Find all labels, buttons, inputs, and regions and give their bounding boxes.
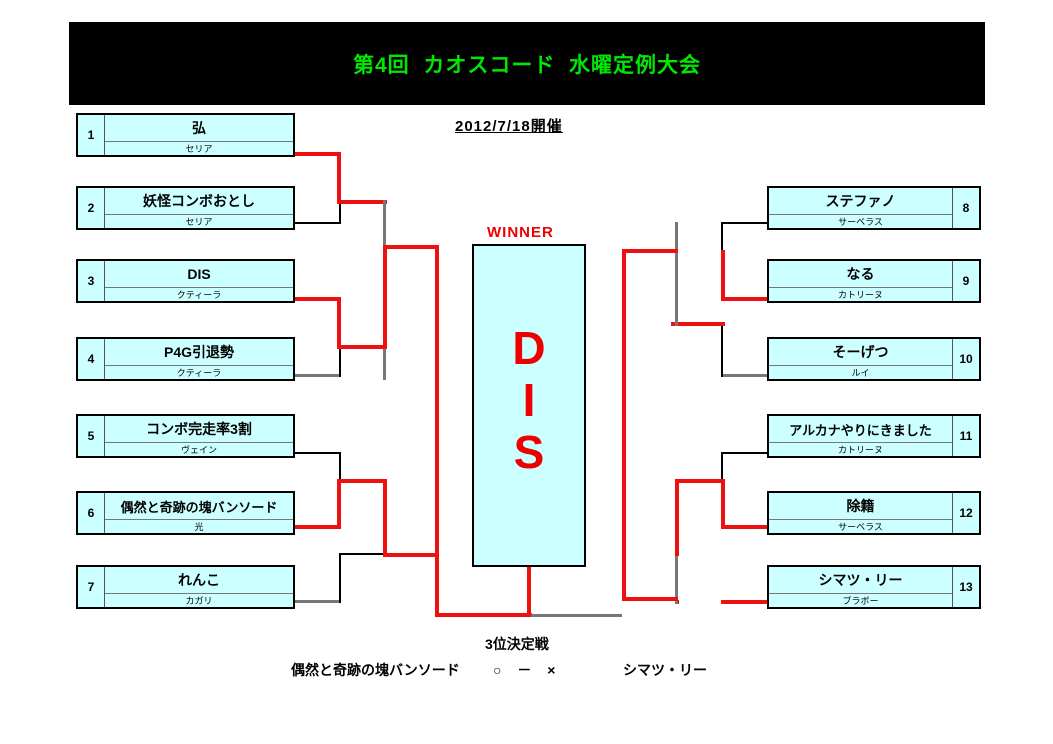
line-final-right-to-box [531,614,622,617]
player-character: ヴェイン [105,442,293,456]
seed-number: 10 [952,339,979,379]
line-final-left-vert [435,245,439,617]
line-seed7-out [295,600,341,603]
line-match810-gry [675,222,678,326]
line-seed8-drop [721,222,723,250]
winner-label: WINNER [487,224,554,241]
line-match1112-bar [675,479,725,483]
line-seed7-bar [339,553,385,555]
entry-seed-4[interactable]: 4 P4G引退勢 クティーラ [76,337,295,381]
line-final-box-stub [527,566,531,617]
line-seed1-drop [337,152,341,202]
entry-seed-1[interactable]: 1 弘 セリア [76,113,295,157]
player-character: カトリーヌ [769,287,952,301]
seed-number: 5 [78,416,105,456]
player-character: カガリ [105,593,293,607]
line-seed6-riser [337,479,341,529]
seed-number: 2 [78,188,105,228]
line-seed2-out [295,222,341,224]
third-place-right-player: シマツ・リー [623,660,707,680]
player-name: DIS [105,261,293,287]
line-seed11-out [721,452,767,454]
line-seed5-drop [339,452,341,480]
player-character: セリア [105,214,293,228]
entry-seed-12[interactable]: 除籍 サーベラス 12 [767,491,981,535]
entry-seed-6[interactable]: 6 偶然と奇跡の塊バンソード 光 [76,491,295,535]
line-seed10-riser [721,326,723,377]
third-place-result-row: 偶然と奇跡の塊バンソード ○ － × シマツ・リー [291,660,761,682]
player-name: コンボ完走率3割 [105,416,293,442]
seed-number: 1 [78,115,105,155]
line-seed3-drop [337,297,341,349]
event-date: 2012/7/18開催 [455,115,563,136]
player-character: クティーラ [105,287,293,301]
line-seed11-drop [721,452,723,480]
player-character: サーベラス [769,214,952,228]
line-seed13-out [721,600,767,604]
player-name: シマツ・リー [769,567,952,593]
line-seed1-out [295,152,341,156]
winner-box: DIS [472,244,586,567]
player-character: サーベラス [769,519,952,533]
player-character: ルイ [769,365,952,379]
line-seed8-out [721,222,767,224]
third-place-result: ○ － × [493,660,561,680]
line-match34-out [337,345,387,349]
line-seed3-out [295,297,341,301]
player-name: 偶然と奇跡の塊バンソード [105,493,293,519]
entry-seed-11[interactable]: アルカナやりにきました カトリーヌ 11 [767,414,981,458]
line-final-left-to-box [435,613,532,617]
line-match12-out [337,200,387,204]
line-seed5-out [295,452,341,454]
player-name: れんこ [105,567,293,593]
entry-seed-7[interactable]: 7 れんこ カガリ [76,565,295,609]
line-match56-down [383,479,387,556]
player-name: ステファノ [769,188,952,214]
player-name: そーげつ [769,339,952,365]
line-seed12-out [721,525,767,529]
third-place-title: 3位決定戦 [485,634,549,654]
player-name: 除籍 [769,493,952,519]
seed-number: 6 [78,493,105,533]
player-name: アルカナやりにきました [769,416,952,442]
third-place-left-player: 偶然と奇跡の塊バンソード [291,660,460,680]
line-match56-out [337,479,387,483]
title-banner: 第4回 カオスコード 水曜定例大会 [69,22,985,105]
player-character: セリア [105,141,293,155]
line-match1112-down [675,479,679,556]
line-seed7-riser [339,553,341,603]
line-seed12-riser [721,479,725,529]
seed-number: 11 [952,416,979,456]
line-seed6-out [295,525,341,529]
line-match910-bar [671,322,725,326]
line-semifinal-right-bar [622,249,678,253]
player-character: ブラボー [769,593,952,607]
player-name: 弘 [105,115,293,141]
player-character: 光 [105,519,293,533]
entry-seed-2[interactable]: 2 妖怪コンボおとし セリア [76,186,295,230]
line-seed9-riser [721,250,725,301]
seed-number: 12 [952,493,979,533]
line-seed9-out [721,297,767,301]
seed-number: 9 [952,261,979,301]
player-character: クティーラ [105,365,293,379]
page-title: 第4回 カオスコード 水曜定例大会 [353,49,701,79]
entry-seed-3[interactable]: 3 DIS クティーラ [76,259,295,303]
player-name: 妖怪コンボおとし [105,188,293,214]
winner-name: DIS [474,322,584,478]
line-seed4-out [295,374,341,377]
line-semifinal-left-lower-bar [383,553,439,557]
line-seed10-out [721,374,767,377]
entry-seed-5[interactable]: 5 コンボ完走率3割 ヴェイン [76,414,295,458]
seed-number: 13 [952,567,979,607]
line-semifinal-left-bar [383,245,439,249]
line-seed4-riser [339,345,341,377]
entry-seed-10[interactable]: そーげつ ルイ 10 [767,337,981,381]
player-character: カトリーヌ [769,442,952,456]
seed-number: 7 [78,567,105,607]
entry-seed-8[interactable]: ステファノ サーベラス 8 [767,186,981,230]
seed-number: 3 [78,261,105,301]
line-semifinal-right-lower-bar [622,597,678,601]
line-final-right-vert [622,249,626,601]
seed-number: 4 [78,339,105,379]
player-name: P4G引退勢 [105,339,293,365]
entry-seed-9[interactable]: なる カトリーヌ 9 [767,259,981,303]
player-name: なる [769,261,952,287]
seed-number: 8 [952,188,979,228]
line-semi-left-riser [383,245,387,349]
entry-seed-13[interactable]: シマツ・リー ブラボー 13 [767,565,981,609]
